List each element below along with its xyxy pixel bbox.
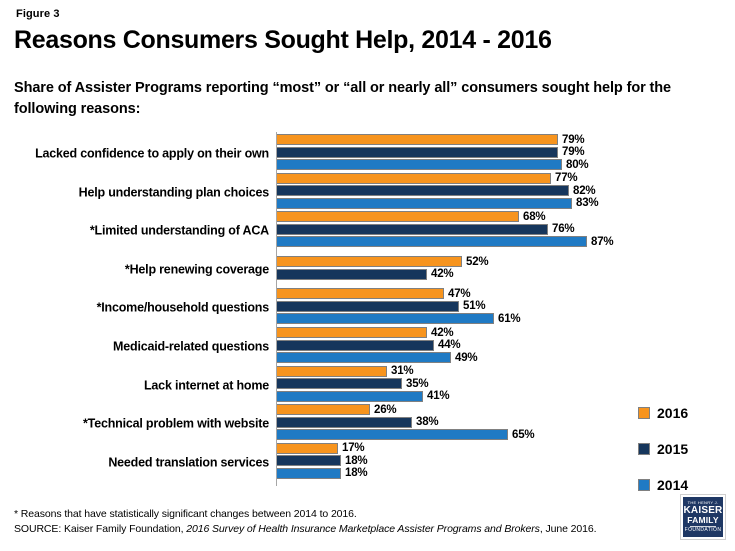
logo-line-4: FOUNDATION [685,528,722,533]
figure-page: Figure 3 Reasons Consumers Sought Help, … [0,0,735,551]
legend-swatch-icon [638,443,650,455]
category-label: Lacked confidence to apply on their own [24,147,269,162]
bar-2014 [277,159,562,170]
bar-row: 82% [277,185,595,196]
bar-group: *Technical problem with website26%38%65% [14,405,721,443]
bar-2014 [277,198,572,209]
kaiser-family-foundation-logo: THE HENRY J. KAISER FAMILY FOUNDATION [680,494,726,540]
category-label: *Help renewing coverage [24,262,269,277]
source-title: 2016 Survey of Health Insurance Marketpl… [186,523,540,535]
bar-row: 42% [277,269,453,280]
bar-value-label: 26% [374,404,396,416]
bar-2016 [277,443,338,454]
bar-row: 49% [277,352,477,363]
bar-2015 [277,340,434,351]
bar-row: 42% [277,327,453,338]
bar-2015 [277,147,558,158]
bar-group-bars: 52%42% [277,251,721,289]
bar-value-label: 41% [427,390,449,402]
bar-2016 [277,327,427,338]
bar-value-label: 35% [406,378,428,390]
bar-row: 65% [277,429,534,440]
source-suffix: , June 2016. [540,523,597,535]
bar-value-label: 42% [431,327,453,339]
category-label: *Income/household questions [24,301,269,316]
legend-item-2015[interactable]: 2015 [638,441,688,457]
bar-row: 79% [277,147,584,158]
category-label: Medicaid-related questions [24,340,269,355]
bar-2016 [277,173,551,184]
bar-2016 [277,404,370,415]
bar-row: 31% [277,366,413,377]
bar-row: 52% [277,256,488,267]
bar-chart: Lacked confidence to apply on their own7… [14,132,721,490]
legend-item-2016[interactable]: 2016 [638,405,688,421]
bar-group: *Income/household questions47%51%61% [14,289,721,327]
bar-row: 17% [277,443,364,454]
bar-value-label: 82% [573,185,595,197]
bar-group-bars: 79%79%80% [277,135,721,173]
page-title: Reasons Consumers Sought Help, 2014 - 20… [14,26,552,55]
bar-row: 18% [277,455,367,466]
chart-plot-area: Lacked confidence to apply on their own7… [14,132,721,490]
logo-divider [690,526,716,527]
bar-group-bars: 42%44%49% [277,328,721,366]
bar-row: 51% [277,301,485,312]
bar-value-label: 42% [431,268,453,280]
bar-row: 47% [277,288,470,299]
bar-value-label: 77% [555,172,577,184]
bar-value-label: 76% [552,223,574,235]
bar-group: Help understanding plan choices77%82%83% [14,174,721,212]
bar-group-bars: 31%35%41% [277,367,721,405]
bar-2015 [277,185,569,196]
legend-label: 2016 [657,405,688,421]
bar-row: 61% [277,313,520,324]
bar-group: Needed translation services17%18%18% [14,444,721,482]
bar-2016 [277,256,462,267]
bar-2016 [277,211,519,222]
bar-value-label: 83% [576,197,598,209]
bar-row: 68% [277,211,545,222]
bar-value-label: 79% [562,134,584,146]
bar-value-label: 68% [523,211,545,223]
bar-row: 79% [277,134,584,145]
bar-value-label: 49% [455,352,477,364]
bar-group: *Help renewing coverage52%42% [14,251,721,289]
bar-2015 [277,378,402,389]
bar-value-label: 52% [466,256,488,268]
bar-row: 35% [277,378,428,389]
bar-row: 76% [277,224,574,235]
bar-value-label: 61% [498,313,520,325]
category-label: *Technical problem with website [24,417,269,432]
bar-value-label: 31% [391,365,413,377]
bar-2014 [277,236,587,247]
bar-group: Lack internet at home31%35%41% [14,367,721,405]
bar-value-label: 47% [448,288,470,300]
chart-subtitle: Share of Assister Programs reporting “mo… [14,78,714,120]
bar-value-label: 65% [512,429,534,441]
legend-swatch-icon [638,479,650,491]
bar-group-bars: 68%76%87% [277,212,721,250]
bar-value-label: 79% [562,146,584,158]
legend-label: 2015 [657,441,688,457]
bar-2016 [277,134,558,145]
bar-group: *Limited understanding of ACA68%76%87% [14,212,721,250]
legend-label: 2014 [657,477,688,493]
bar-value-label: 87% [591,236,613,248]
bar-2014 [277,468,341,479]
bar-2016 [277,288,444,299]
bar-group: Lacked confidence to apply on their own7… [14,135,721,173]
bar-2015 [277,417,412,428]
bar-row: 77% [277,173,577,184]
bar-row: 44% [277,340,460,351]
logo-line-3: FAMILY [687,516,719,525]
bar-value-label: 44% [438,339,460,351]
category-label: Needed translation services [24,455,269,470]
bar-2014 [277,429,508,440]
bar-2014 [277,313,494,324]
bar-2015 [277,224,548,235]
bar-group: Medicaid-related questions42%44%49% [14,328,721,366]
bar-2015 [277,455,341,466]
bar-value-label: 80% [566,159,588,171]
legend-swatch-icon [638,407,650,419]
bar-2014 [277,352,451,363]
bar-row: 80% [277,159,588,170]
bar-2015 [277,269,427,280]
bar-value-label: 38% [416,416,438,428]
bar-row: 41% [277,391,449,402]
source-prefix: SOURCE: Kaiser Family Foundation, [14,523,186,535]
bar-value-label: 17% [342,442,364,454]
bar-group-bars: 47%51%61% [277,289,721,327]
bar-row: 83% [277,198,598,209]
bar-row: 87% [277,236,613,247]
source-note: SOURCE: Kaiser Family Foundation, 2016 S… [14,523,596,535]
bar-value-label: 51% [463,300,485,312]
category-label: *Limited understanding of ACA [24,224,269,239]
bar-value-label: 18% [345,467,367,479]
footnote: * Reasons that have statistically signif… [14,508,357,520]
category-label: Lack internet at home [24,378,269,393]
bar-row: 26% [277,404,396,415]
figure-label: Figure 3 [16,8,60,20]
bar-row: 18% [277,468,367,479]
legend-item-2014[interactable]: 2014 [638,477,688,493]
bar-group-bars: 77%82%83% [277,174,721,212]
bar-2014 [277,391,423,402]
bar-row: 38% [277,417,438,428]
bar-value-label: 18% [345,455,367,467]
bar-2015 [277,301,459,312]
bar-2016 [277,366,387,377]
category-label: Help understanding plan choices [24,185,269,200]
